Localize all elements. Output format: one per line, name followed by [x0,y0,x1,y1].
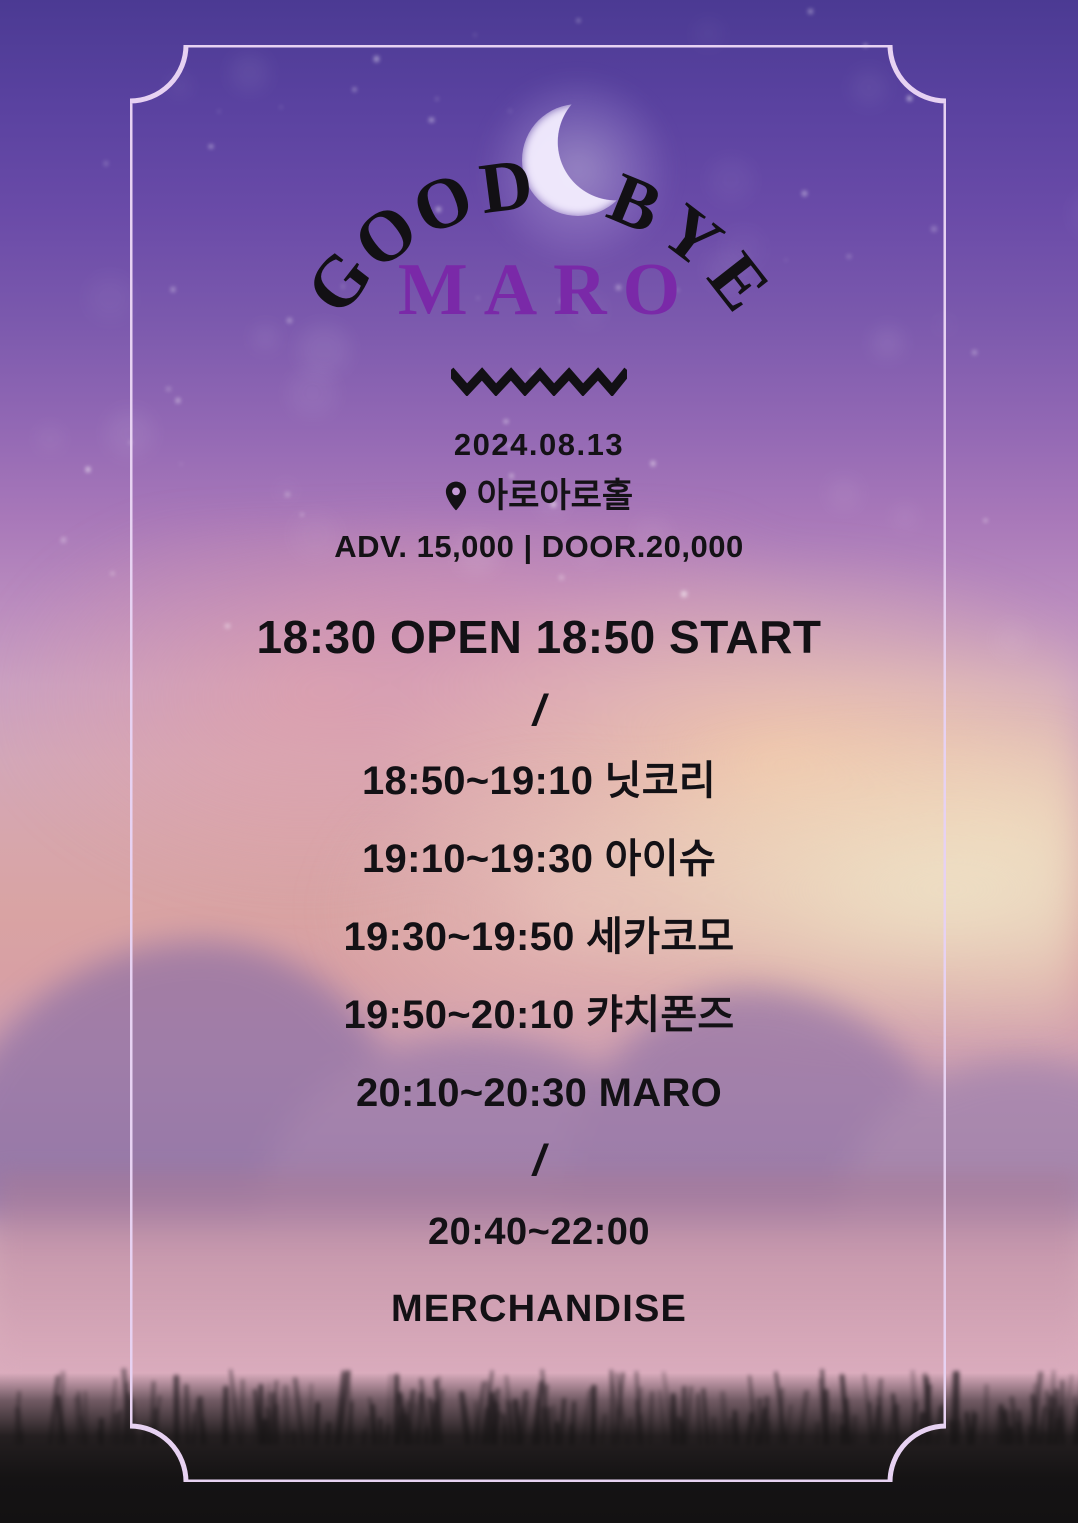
schedule-block: 18:30 OPEN 18:50 START / 18:50~19:10 닛코리… [0,612,1078,1331]
timetable-list: 18:50~19:10 닛코리19:10~19:30 아이슈19:30~19:5… [0,761,1078,1113]
timetable-slot: 19:50~20:10 캬치폰즈 [0,995,1078,1035]
separator-slash-bottom: / [0,1139,1078,1183]
event-venue: 아로아로홀 [0,472,1078,521]
open-start-line: 18:30 OPEN 18:50 START [0,612,1078,663]
timetable-slot: 18:50~19:10 닛코리 [0,761,1078,801]
timetable-slot: 19:30~19:50 세카코모 [0,917,1078,957]
separator-slash-top: / [0,689,1078,733]
subtitle-maro: MARO [0,248,1078,333]
arc-letter: D [475,143,537,229]
venue-name: 아로아로홀 [477,472,633,521]
timetable-slot: 19:10~19:30 아이슈 [0,839,1078,879]
event-meta: 2024.08.13 아로아로홀 ADV. 15,000 | DOOR.20,0… [0,424,1078,565]
zigzag-divider [0,366,1078,400]
arched-title-goodbye: GOODBYE [0,108,1078,268]
event-date: 2024.08.13 [0,424,1078,466]
timetable-slot: 20:10~20:30 MARO [0,1073,1078,1113]
ticket-price: ADV. 15,000 | DOOR.20,000 [0,529,1078,565]
merchandise-time: 20:40~22:00 [0,1211,1078,1254]
location-pin-icon [445,481,467,511]
merchandise-label: MERCHANDISE [0,1288,1078,1331]
poster-content: GOODBYE MARO 2024.08.13 아로아로홀 [0,0,1078,1523]
poster-canvas: GOODBYE MARO 2024.08.13 아로아로홀 [0,0,1078,1523]
